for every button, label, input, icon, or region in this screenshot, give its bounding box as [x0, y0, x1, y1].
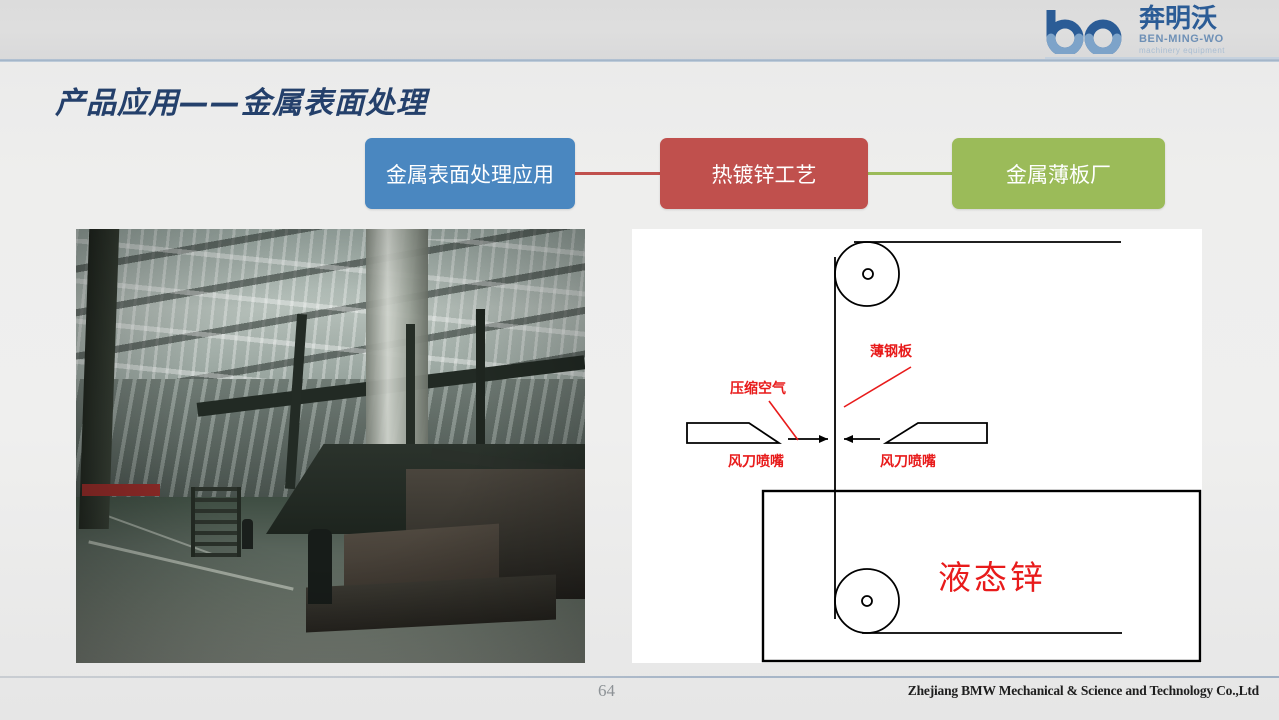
process-box-sheet-metal-plant[interactable]: 金属薄板厂 [952, 138, 1165, 209]
process-box-metal-surface-treatment[interactable]: 金属表面处理应用 [365, 138, 575, 209]
bottom-roller-axle [862, 596, 872, 606]
process-box-label: 金属表面处理应用 [386, 159, 554, 189]
process-box-label: 金属薄板厂 [1006, 159, 1111, 189]
logo-tagline: machinery equipment [1139, 46, 1263, 56]
leader-line-compressed-air [769, 401, 798, 440]
company-logo: 奔明沃 BEN-MING-WO machinery equipment [1035, 3, 1263, 59]
logo-chinese-name: 奔明沃 [1139, 5, 1263, 33]
process-flow: 金属表面处理应用 热镀锌工艺 金属薄板厂 [0, 138, 1279, 212]
connector-blue-to-red [575, 172, 660, 175]
footer-divider [0, 676, 1279, 678]
process-box-label: 热镀锌工艺 [712, 159, 817, 189]
label-compressed-air: 压缩空气 [730, 378, 786, 398]
label-air-knife-right: 风刀喷嘴 [880, 451, 936, 471]
galvanizing-diagram: 薄钢板 压缩空气 风刀喷嘴 风刀喷嘴 液态锌 [632, 229, 1202, 663]
air-flow-arrow-right-head [844, 435, 853, 443]
diagram-svg [632, 229, 1202, 663]
air-flow-arrow-left-head [819, 435, 828, 443]
label-air-knife-left: 风刀喷嘴 [728, 451, 784, 471]
top-roller [835, 242, 899, 306]
logo-english-name: BEN-MING-WO [1139, 33, 1263, 46]
bo-monogram-icon [1041, 8, 1133, 54]
footer-company-name: Zhejiang BMW Mechanical & Science and Te… [908, 683, 1259, 699]
leader-line-steel-sheet [844, 367, 911, 407]
page-number: 64 [598, 681, 615, 701]
page-title: 产品应用——金属表面处理 [55, 78, 427, 122]
process-box-hot-dip-galvanizing[interactable]: 热镀锌工艺 [660, 138, 868, 209]
label-steel-sheet: 薄钢板 [870, 341, 912, 361]
header-divider [0, 59, 1279, 62]
factory-photo [76, 229, 585, 663]
air-knife-nozzle-left [687, 423, 779, 443]
top-roller-axle [863, 269, 873, 279]
connector-red-to-green [868, 172, 952, 175]
label-liquid-zinc: 液态锌 [938, 551, 1046, 599]
photo-vignette [76, 229, 585, 663]
bottom-roller [835, 569, 899, 633]
slide: 奔明沃 BEN-MING-WO machinery equipment 产品应用… [0, 0, 1279, 720]
air-knife-nozzle-right [886, 423, 987, 443]
logo-text: 奔明沃 BEN-MING-WO machinery equipment [1139, 5, 1263, 56]
